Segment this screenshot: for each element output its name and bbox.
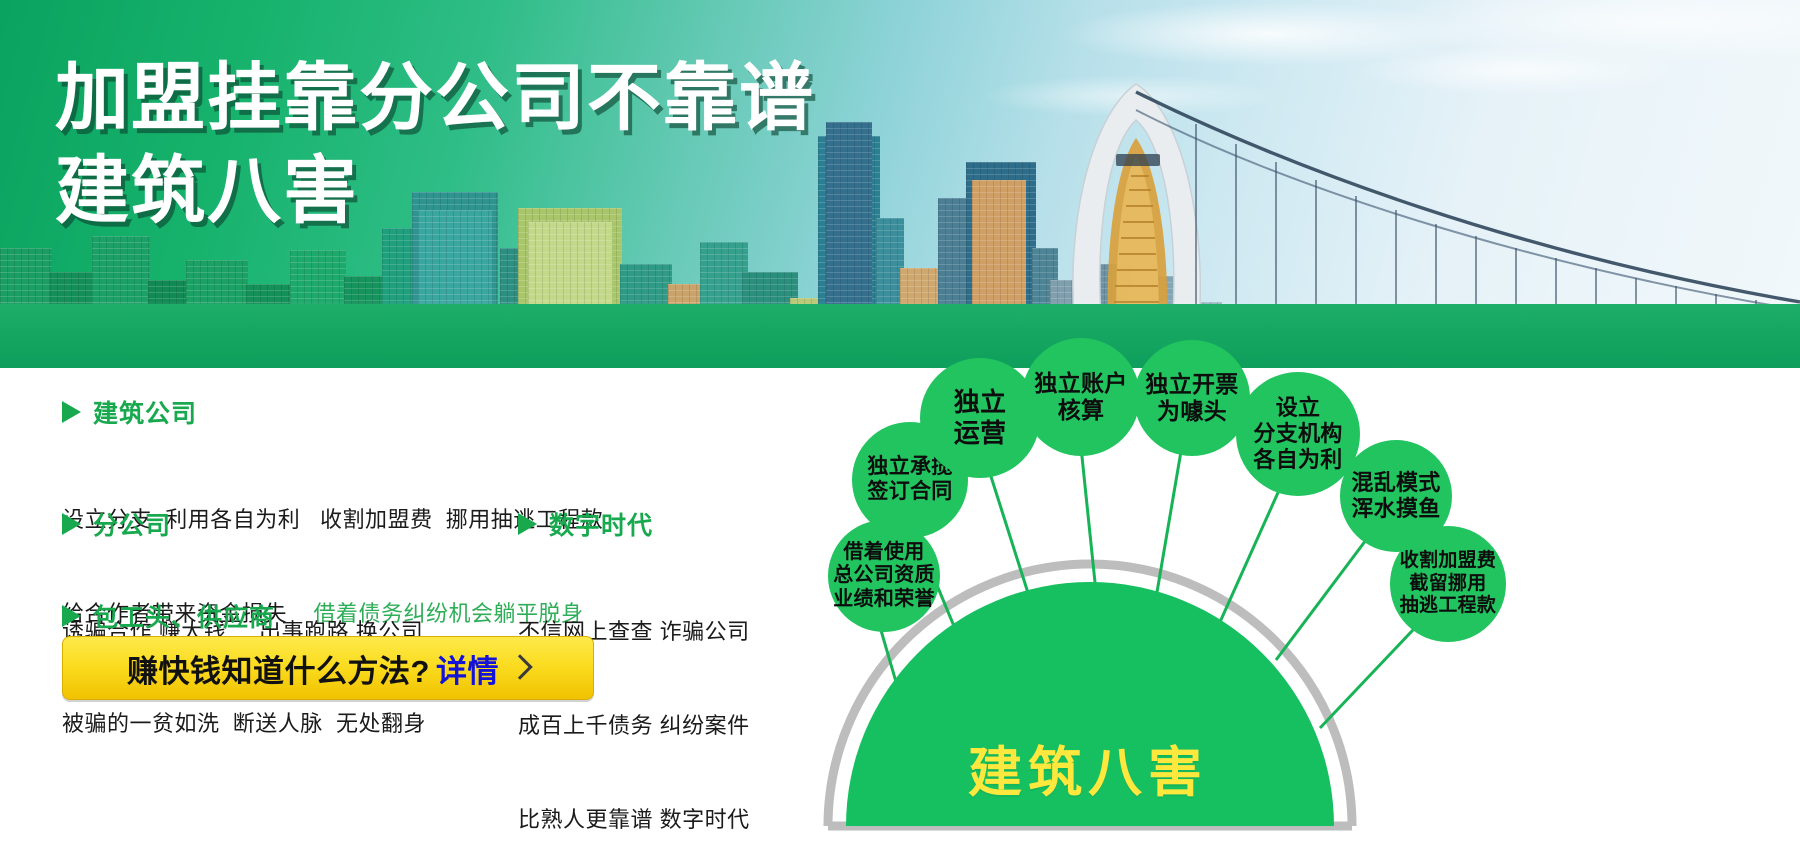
bubble-line: 独立开票: [1145, 371, 1238, 398]
bubble-5[interactable]: 独立开票 为噱头: [1134, 340, 1250, 456]
triangle-bullet-icon: [62, 401, 81, 423]
bubble-line: 各自为利: [1253, 447, 1342, 473]
bubble-line: 截留挪用: [1400, 573, 1497, 595]
section-title: 建筑公司: [93, 394, 197, 430]
section-line: 比熟人更靠谱 数字时代: [518, 804, 750, 835]
diagram-bubble-chart: 借着使用 总公司资质 业绩和荣誉 独立承揽 签订合同 独立 运营 独立账户 核算: [790, 330, 1800, 844]
section-heading: 建筑公司: [62, 394, 603, 430]
section-title: 数字时代: [549, 506, 653, 542]
bubble-line: 为噱头: [1145, 398, 1238, 425]
bubble-line: 独立: [954, 387, 1007, 418]
dome-center-label: 建筑八害: [968, 728, 1208, 807]
page-title: 加盟挂靠分公司不靠谱 建筑八害: [55, 58, 815, 233]
cta-button[interactable]: 赚快钱知道什么方法? 详情: [62, 636, 594, 700]
bubble-line: 分支机构: [1253, 421, 1342, 447]
section-heading: 数字时代: [518, 506, 750, 542]
bubble-line: 借着使用: [833, 541, 935, 565]
section-line: 成百上千债务 纠纷案件: [518, 710, 750, 741]
triangle-bullet-icon: [62, 605, 81, 627]
left-content: 建筑公司 设立分支 利用各自为利 收割加盟费 挪用抽逃工程款 给合作者带来资金损…: [0, 368, 790, 844]
bubble-line: 浑水摸鱼: [1351, 496, 1440, 522]
bubble-line: 设立: [1253, 395, 1342, 421]
triangle-bullet-icon: [518, 513, 537, 535]
section-heading: 包工头、供应商: [62, 598, 426, 634]
section-line: 被骗的一贫如洗 断送人脉 无处翻身: [62, 708, 426, 739]
bubble-line: 核算: [1034, 397, 1127, 424]
bubble-3[interactable]: 独立 运营: [920, 358, 1040, 478]
chevron-right-icon: [507, 654, 532, 679]
section-title: 包工头、供应商: [93, 598, 275, 634]
section-contractor-supplier: 包工头、供应商 被骗的一贫如洗 断送人脉 无处翻身: [62, 598, 426, 802]
bubble-1[interactable]: 借着使用 总公司资质 业绩和荣誉: [828, 520, 940, 632]
cta-main-label: 赚快钱知道什么方法?: [127, 646, 430, 691]
section-heading: 分公司: [62, 506, 423, 542]
hero-title-line1: 加盟挂靠分公司不靠谱: [55, 58, 815, 138]
bubble-6[interactable]: 设立 分支机构 各自为利: [1236, 372, 1360, 496]
cta-detail-link[interactable]: 详情: [436, 646, 499, 691]
bubble-line: 总公司资质: [833, 564, 935, 588]
bubble-line: 运营: [954, 418, 1007, 449]
hero-banner: 加盟挂靠分公司不靠谱 建筑八害: [0, 0, 1800, 368]
triangle-bullet-icon: [62, 513, 81, 535]
bubble-line: 签订合同: [867, 480, 952, 505]
bubble-line: 独立账户: [1034, 370, 1127, 397]
section-title: 分公司: [93, 506, 171, 542]
bubble-line: 抽逃工程款: [1400, 595, 1497, 617]
bubble-line: 收割加盟费: [1400, 550, 1497, 572]
bubble-8[interactable]: 收割加盟费 截留挪用 抽逃工程款: [1390, 526, 1506, 642]
bubble-line: 混乱模式: [1351, 470, 1440, 496]
bubble-line: 业绩和荣誉: [833, 588, 935, 612]
hero-title-line2: 建筑八害: [55, 150, 815, 233]
bubble-4[interactable]: 独立账户 核算: [1022, 338, 1140, 456]
poster-root: 加盟挂靠分公司不靠谱 建筑八害 建筑公司 设立分支 利用各自为利 收割加盟费 挪…: [0, 0, 1800, 844]
